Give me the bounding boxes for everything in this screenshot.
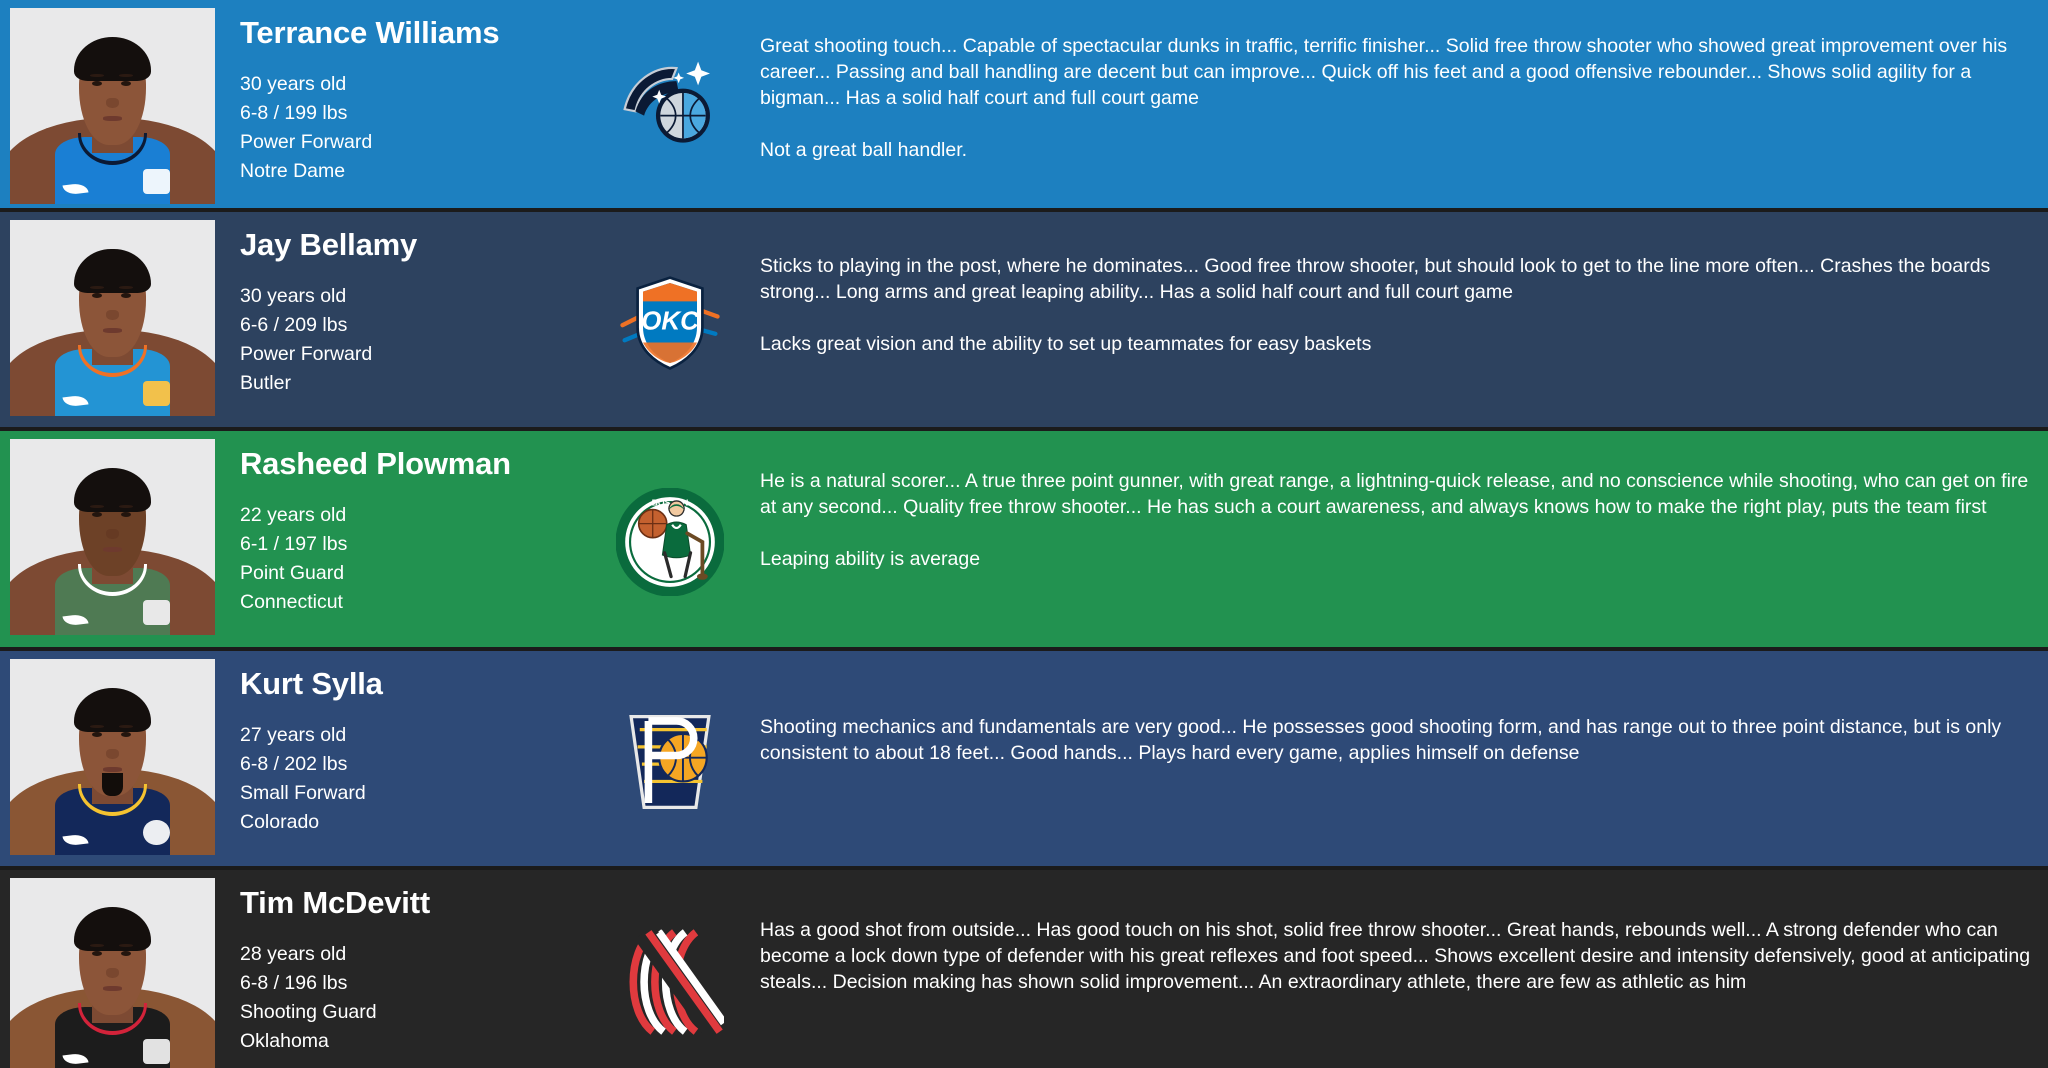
player-info: Kurt Sylla 27 years old 6-8 / 202 lbs Sm… (230, 651, 580, 837)
player-info: Tim McDevitt 28 years old 6-8 / 196 lbs … (230, 870, 580, 1056)
player-name: Jay Bellamy (240, 228, 580, 262)
player-portrait-cell (0, 0, 230, 208)
player-college: Notre Dame (240, 157, 580, 186)
player-portrait-cell (0, 870, 230, 1068)
player-measurements: 6-8 / 202 lbs (240, 750, 580, 779)
team-logo-cell[interactable] (580, 0, 760, 208)
jersey-sponsor-patch (143, 381, 170, 406)
thunder-logo-icon: OKC (616, 269, 724, 377)
jersey-sponsor-patch (143, 820, 170, 845)
player-measurements: 6-8 / 199 lbs (240, 99, 580, 128)
team-logo-cell[interactable] (580, 651, 760, 866)
player-position: Power Forward (240, 128, 580, 157)
player-portrait-cell (0, 431, 230, 647)
celtics-logo-icon: BOSTON (616, 488, 724, 596)
player-portrait (10, 878, 215, 1068)
player-age: 27 years old (240, 721, 580, 750)
player-age: 28 years old (240, 940, 580, 969)
player-name: Terrance Williams (240, 16, 580, 50)
player-age: 30 years old (240, 282, 580, 311)
player-info: Rasheed Plowman 22 years old 6-1 / 197 l… (230, 431, 580, 617)
player-row[interactable]: Tim McDevitt 28 years old 6-8 / 196 lbs … (0, 870, 2048, 1068)
player-stats: 30 years old 6-8 / 199 lbs Power Forward… (240, 70, 580, 185)
scouting-report: Great shooting touch... Capable of spect… (760, 0, 2048, 164)
pacers-logo-icon (616, 708, 724, 816)
player-name: Tim McDevitt (240, 886, 580, 920)
player-position: Point Guard (240, 559, 580, 588)
scouting-report: Sticks to playing in the post, where he … (760, 212, 2048, 358)
player-stats: 27 years old 6-8 / 202 lbs Small Forward… (240, 721, 580, 836)
player-strengths: Sticks to playing in the post, where he … (760, 254, 2038, 306)
player-stats: 30 years old 6-6 / 209 lbs Power Forward… (240, 282, 580, 397)
player-measurements: 6-1 / 197 lbs (240, 530, 580, 559)
player-portrait (10, 8, 215, 204)
player-position: Shooting Guard (240, 998, 580, 1027)
player-college: Colorado (240, 808, 580, 837)
magic-logo-icon (616, 53, 724, 161)
player-portrait-cell (0, 212, 230, 427)
player-strengths: Great shooting touch... Capable of spect… (760, 34, 2038, 112)
player-name: Kurt Sylla (240, 667, 580, 701)
player-row[interactable]: Jay Bellamy 30 years old 6-6 / 209 lbs P… (0, 212, 2048, 431)
player-info: Terrance Williams 30 years old 6-8 / 199… (230, 0, 580, 186)
scouting-report-board: Terrance Williams 30 years old 6-8 / 199… (0, 0, 2048, 1068)
player-weaknesses: Lacks great vision and the ability to se… (760, 332, 2038, 358)
player-weaknesses: Leaping ability is average (760, 547, 2038, 573)
player-stats: 28 years old 6-8 / 196 lbs Shooting Guar… (240, 940, 580, 1055)
svg-text:OKC: OKC (641, 307, 700, 335)
jersey-sponsor-patch (143, 1039, 170, 1064)
player-college: Butler (240, 369, 580, 398)
team-logo-cell[interactable]: BOSTON (580, 431, 760, 647)
player-measurements: 6-8 / 196 lbs (240, 969, 580, 998)
player-row[interactable]: Kurt Sylla 27 years old 6-8 / 202 lbs Sm… (0, 651, 2048, 870)
scouting-report: He is a natural scorer... A true three p… (760, 431, 2048, 573)
player-strengths: Has a good shot from outside... Has good… (760, 918, 2038, 996)
player-name: Rasheed Plowman (240, 447, 580, 481)
scouting-report: Shooting mechanics and fundamentals are … (760, 651, 2048, 793)
player-age: 30 years old (240, 70, 580, 99)
player-portrait (10, 439, 215, 635)
player-age: 22 years old (240, 501, 580, 530)
scouting-report: Has a good shot from outside... Has good… (760, 870, 2048, 1022)
player-strengths: Shooting mechanics and fundamentals are … (760, 715, 2038, 767)
player-row[interactable]: Terrance Williams 30 years old 6-8 / 199… (0, 0, 2048, 212)
jersey-sponsor-patch (143, 600, 170, 625)
player-strengths: He is a natural scorer... A true three p… (760, 469, 2038, 521)
player-college: Connecticut (240, 588, 580, 617)
player-row[interactable]: Rasheed Plowman 22 years old 6-1 / 197 l… (0, 431, 2048, 651)
player-measurements: 6-6 / 209 lbs (240, 311, 580, 340)
player-college: Oklahoma (240, 1027, 580, 1056)
player-stats: 22 years old 6-1 / 197 lbs Point Guard C… (240, 501, 580, 616)
team-logo-cell[interactable] (580, 870, 760, 1068)
player-info: Jay Bellamy 30 years old 6-6 / 209 lbs P… (230, 212, 580, 398)
team-logo-cell[interactable]: OKC (580, 212, 760, 427)
player-weaknesses: Not a great ball handler. (760, 138, 2038, 164)
player-portrait-cell (0, 651, 230, 866)
player-position: Small Forward (240, 779, 580, 808)
player-portrait (10, 220, 215, 416)
player-portrait (10, 659, 215, 855)
blazers-logo-icon (616, 928, 724, 1036)
jersey-sponsor-patch (143, 169, 170, 194)
player-position: Power Forward (240, 340, 580, 369)
